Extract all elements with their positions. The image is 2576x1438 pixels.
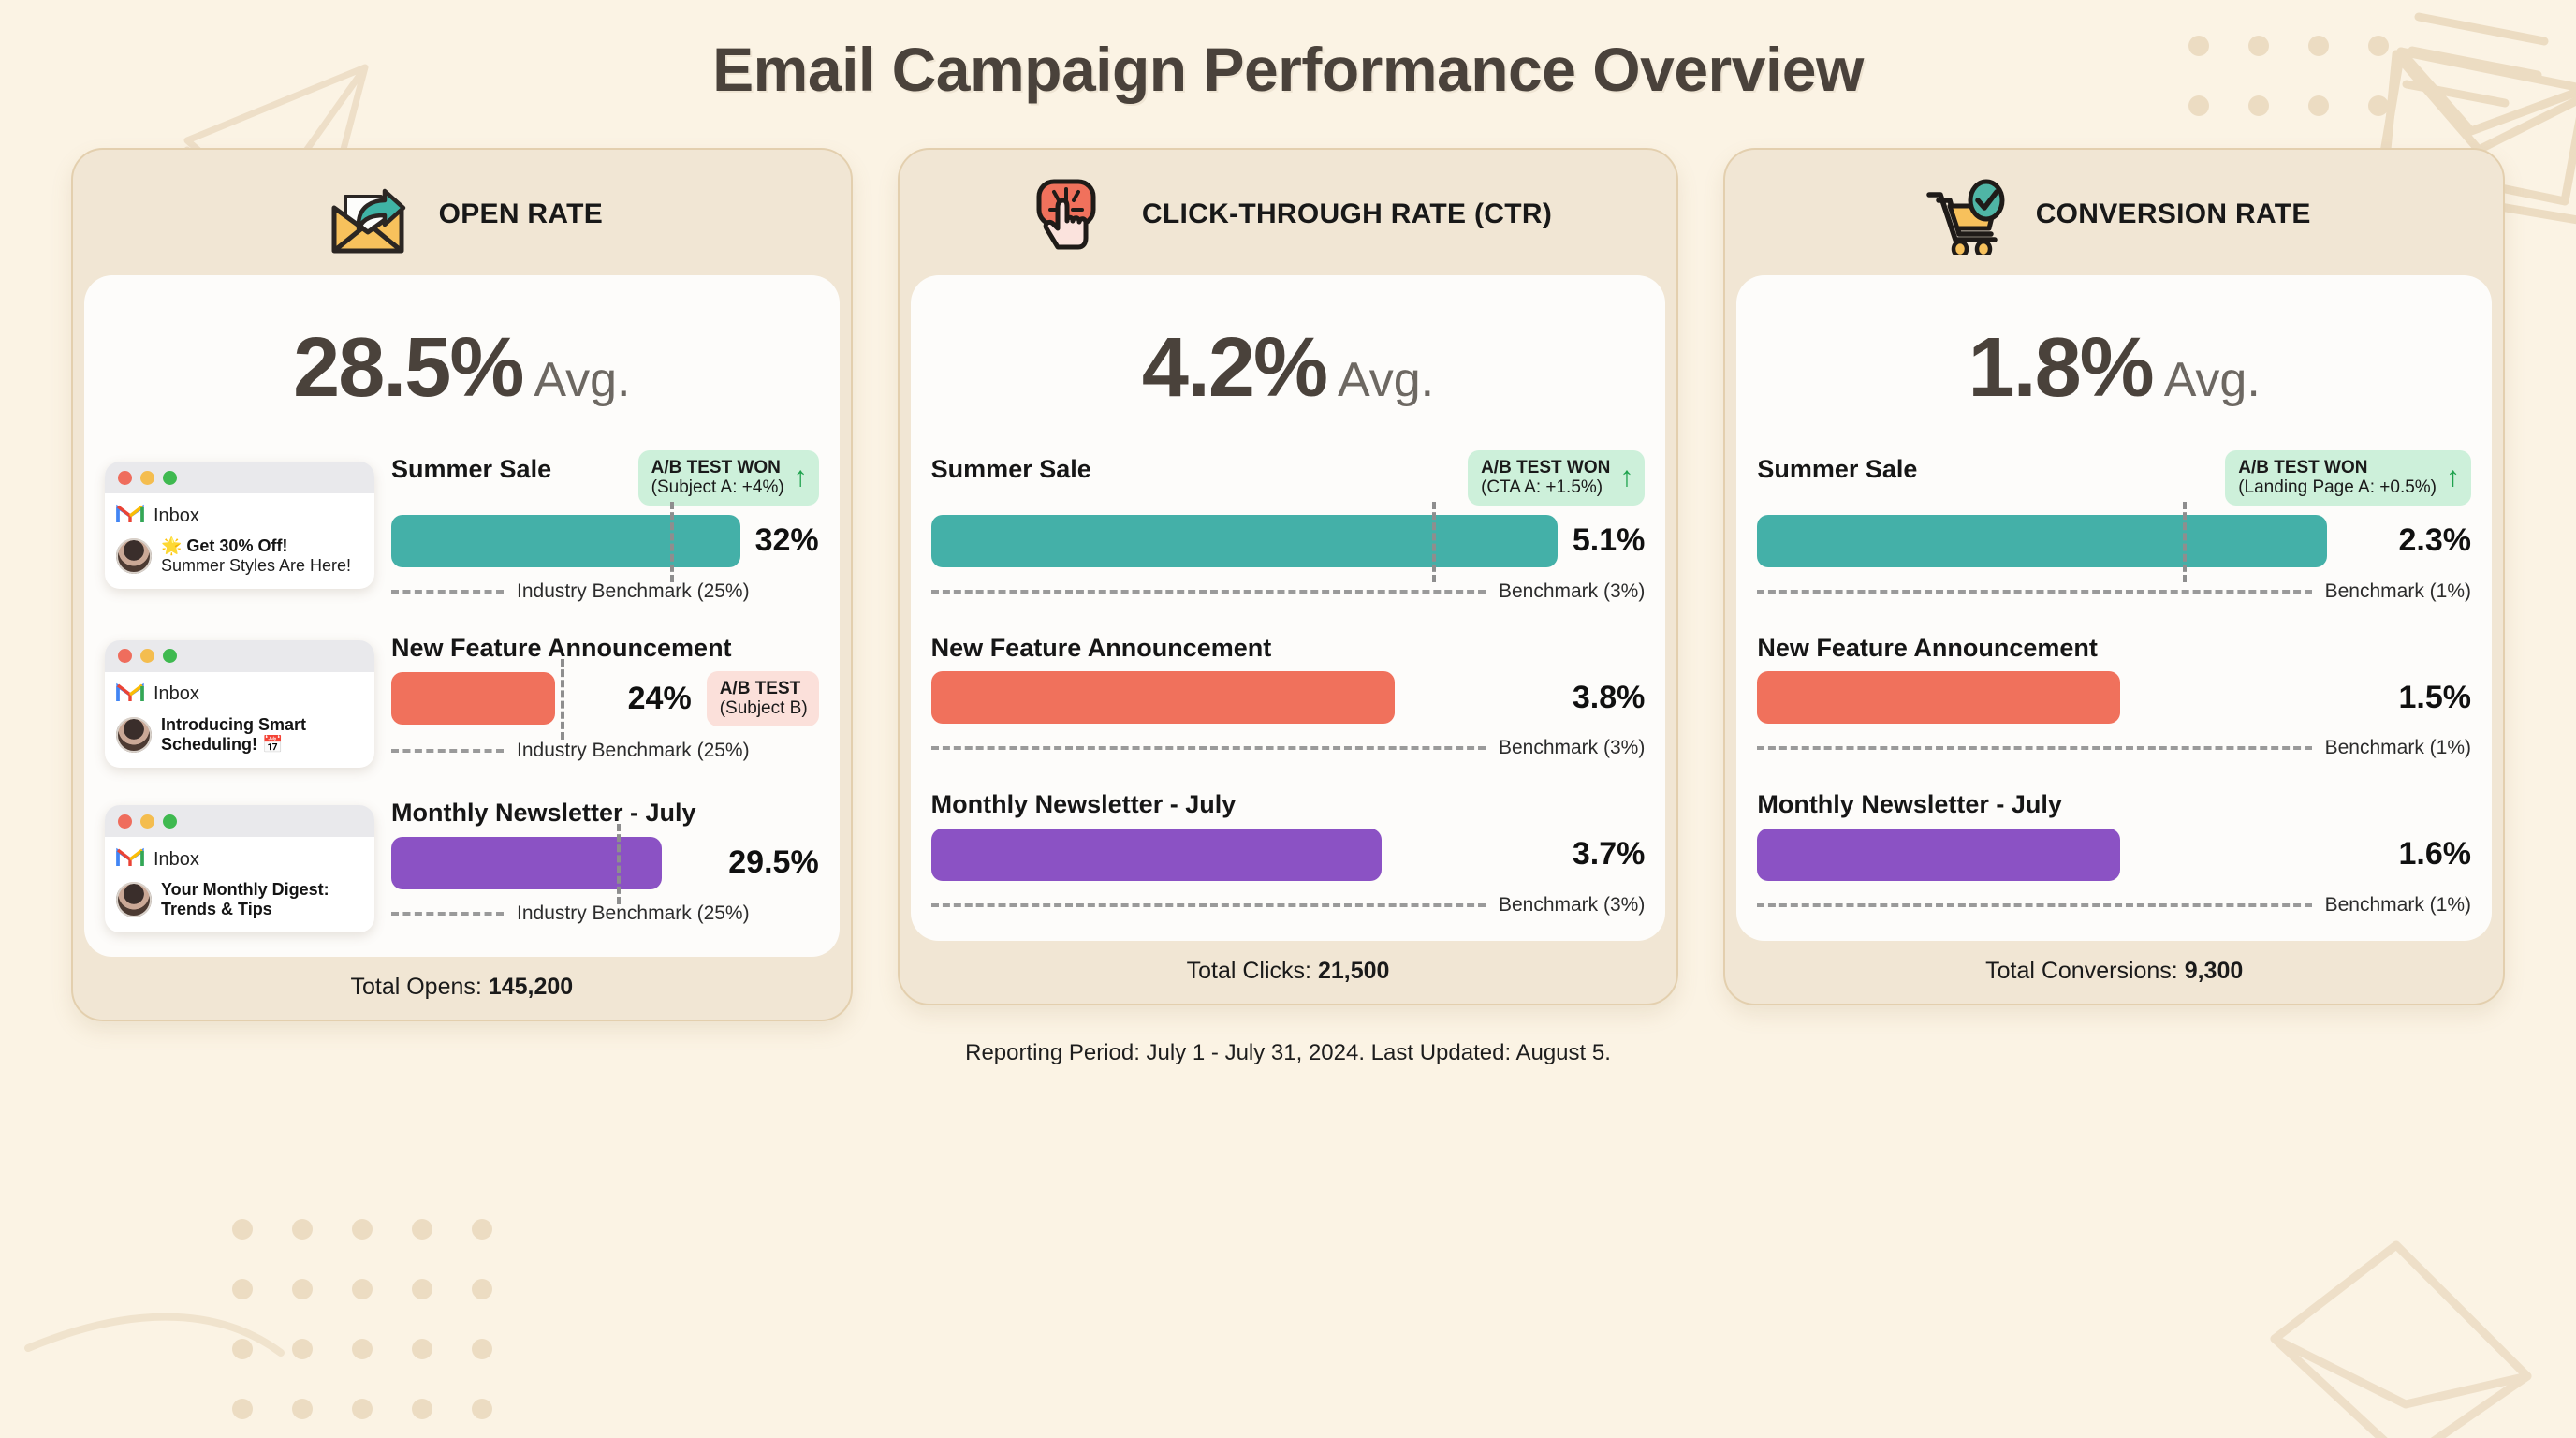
metric-chart: Summer Sale A/B TEST WON (Landing Page A…: [1757, 448, 2471, 603]
value-bar: [391, 672, 555, 725]
badge-line-2: (Subject A: +4%): [651, 477, 784, 497]
metric-rows: Summer Sale A/B TEST WON (CTA A: +1.5%) …: [911, 448, 1666, 917]
ab-test-badge[interactable]: A/B TEST (Subject B): [707, 671, 819, 726]
benchmark-dash: [1757, 590, 2311, 594]
close-dot-icon: [118, 471, 132, 485]
card-footer: Total Opens: 145,200: [73, 957, 851, 1020]
average-label: Avg.: [2164, 353, 2261, 407]
benchmark-line: [670, 502, 674, 582]
card-footer: Total Clicks: 21,500: [900, 941, 1677, 1004]
arrow-up-icon: ↑: [794, 466, 808, 489]
benchmark-dash: [931, 746, 1486, 750]
badge-line-2: (Landing Page A: +0.5%): [2238, 477, 2437, 497]
metric-chart: New Feature Announcement 1.5%: [1757, 627, 2471, 760]
metric-card-click-through-rate[interactable]: CLICK-THROUGH RATE (CTR) 4.2%Avg. Summer…: [898, 148, 1679, 1005]
benchmark-label: Benchmark (1%): [2325, 894, 2471, 917]
dot-grid-bottom-left: [232, 1219, 492, 1419]
value-label: 24%: [628, 681, 692, 717]
campaign-name: Summer Sale: [931, 450, 1091, 484]
benchmark-dash: [391, 590, 504, 594]
metric-chart: Monthly Newsletter - July 3.7%: [931, 784, 1646, 917]
arrow-up-icon: ↑: [1619, 466, 1633, 489]
value-label: 2.3%: [2399, 522, 2472, 559]
benchmark-label: Benchmark (1%): [2325, 580, 2471, 603]
benchmark-line: [561, 659, 564, 740]
metric-row[interactable]: Monthly Newsletter - July 1.6%: [1757, 784, 2471, 917]
metric-row[interactable]: Inbox 🌟 Get 30% Off! Summer Styles Are H…: [105, 448, 819, 603]
card-body: 1.8%Avg. Summer Sale A/B TEST WON (Landi…: [1736, 275, 2492, 941]
card-header: CLICK-THROUGH RATE (CTR): [900, 150, 1677, 275]
benchmark-line: [2183, 502, 2187, 582]
total-value: 9,300: [2185, 958, 2244, 984]
card-body: 28.5%Avg.: [84, 275, 840, 957]
total-label: Total Clicks:: [1187, 958, 1311, 984]
benchmark-label: Industry Benchmark (25%): [517, 902, 750, 925]
minimize-dot-icon: [140, 649, 154, 663]
campaign-name: New Feature Announcement: [1757, 629, 2098, 663]
badge-line-1: A/B TEST: [720, 679, 801, 698]
benchmark-label: Industry Benchmark (25%): [517, 740, 750, 762]
benchmark-line: [1432, 502, 1436, 582]
campaign-name: Monthly Newsletter - July: [931, 785, 1237, 819]
value-label: 1.5%: [2399, 680, 2472, 716]
metric-chart: New Feature Announcement 24%: [391, 627, 819, 762]
value-label: 5.1%: [1573, 522, 1646, 559]
value-label: 3.7%: [1573, 836, 1646, 873]
close-dot-icon: [118, 649, 132, 663]
value-bar: [931, 671, 1395, 724]
value-label: 1.6%: [2399, 836, 2472, 873]
minimize-dot-icon: [140, 471, 154, 485]
campaign-name: Summer Sale: [391, 450, 551, 484]
total-label: Total Conversions:: [1985, 958, 2178, 984]
value-bar: [1757, 829, 2120, 881]
reporting-period-note: Reporting Period: July 1 - July 31, 2024…: [0, 1040, 2576, 1066]
email-subject: Introducing Smart: [161, 715, 306, 734]
average-label: Avg.: [1338, 353, 1434, 407]
avatar: [116, 717, 152, 753]
campaign-name: Monthly Newsletter - July: [391, 794, 696, 828]
arrow-up-icon: ↑: [2446, 466, 2460, 489]
gmail-icon: [116, 682, 144, 708]
badge-line-1: A/B TEST WON: [1481, 458, 1610, 477]
average-value: 28.5%: [293, 321, 522, 415]
value-bar: [931, 515, 1558, 567]
metric-cards-row: OPEN RATE 28.5%Avg.: [0, 105, 2576, 1021]
metric-chart: Monthly Newsletter - July 29.5%: [391, 792, 819, 925]
value-bar: [1757, 671, 2120, 724]
value-bar: [1757, 515, 2327, 567]
metric-row[interactable]: New Feature Announcement 1.5%: [1757, 627, 2471, 760]
metric-chart: Monthly Newsletter - July 1.6%: [1757, 784, 2471, 917]
window-titlebar: [105, 640, 374, 672]
campaign-name: New Feature Announcement: [391, 629, 732, 663]
click-cursor-icon: [1024, 174, 1118, 255]
average-value-line: 4.2%Avg.: [911, 296, 1666, 448]
total-value: 21,500: [1318, 958, 1389, 984]
benchmark-dash: [931, 590, 1486, 594]
average-value-line: 1.8%Avg.: [1736, 296, 2492, 448]
total-label: Total Opens:: [350, 974, 481, 1000]
benchmark-label: Benchmark (3%): [1499, 894, 1645, 917]
metric-row[interactable]: Summer Sale A/B TEST WON (Landing Page A…: [1757, 448, 2471, 603]
metric-row[interactable]: Inbox Your Monthly Digest: Trends & Tips: [105, 792, 819, 932]
avatar: [116, 882, 152, 917]
campaign-name: Summer Sale: [1757, 450, 1917, 484]
average-value: 1.8%: [1969, 321, 2153, 415]
campaign-name: New Feature Announcement: [931, 629, 1272, 663]
average-value-line: 28.5%Avg.: [84, 296, 840, 448]
maximize-dot-icon: [163, 649, 177, 663]
email-subject: Your Monthly Digest:: [161, 880, 329, 899]
page-title: Email Campaign Performance Overview: [0, 0, 2576, 105]
badge-line-1: A/B TEST WON: [2238, 458, 2367, 477]
benchmark-label: Industry Benchmark (25%): [517, 580, 750, 603]
metric-chart: Summer Sale A/B TEST WON (CTA A: +1.5%) …: [931, 448, 1646, 603]
metric-row[interactable]: New Feature Announcement 3.8%: [931, 627, 1646, 760]
card-header: CONVERSION RATE: [1725, 150, 2503, 275]
email-preview: Summer Styles Are Here!: [161, 556, 351, 575]
avatar: [116, 538, 152, 574]
inbox-preview-card: Inbox Your Monthly Digest: Trends & Tips: [105, 805, 374, 932]
average-value: 4.2%: [1142, 321, 1326, 415]
metric-chart: Summer Sale A/B TEST WON (Subject A: +4%…: [391, 448, 819, 603]
campaign-name: Monthly Newsletter - July: [1757, 785, 2062, 819]
value-label: 3.8%: [1573, 680, 1646, 716]
metric-row[interactable]: Summer Sale A/B TEST WON (CTA A: +1.5%) …: [931, 448, 1646, 603]
metric-card-conversion-rate[interactable]: CONVERSION RATE 1.8%Avg. Summer Sale A/B…: [1723, 148, 2505, 1005]
card-title: CONVERSION RATE: [2036, 198, 2311, 230]
total-value: 145,200: [489, 974, 573, 1000]
badge-line-1: A/B TEST WON: [651, 458, 781, 477]
benchmark-dash: [391, 749, 504, 753]
metric-card-open-rate[interactable]: OPEN RATE 28.5%Avg.: [71, 148, 853, 1021]
inbox-preview-card: Inbox 🌟 Get 30% Off! Summer Styles Are H…: [105, 462, 374, 589]
inbox-folder-label: Inbox: [154, 683, 199, 705]
open-envelope-icon: [321, 174, 415, 255]
benchmark-dash: [1757, 903, 2311, 907]
metric-row[interactable]: Monthly Newsletter - July 3.7%: [931, 784, 1646, 917]
value-label: 32%: [755, 522, 819, 559]
cart-check-icon: [1918, 174, 2012, 255]
maximize-dot-icon: [163, 814, 177, 829]
minimize-dot-icon: [140, 814, 154, 829]
email-preview: Trends & Tips: [161, 900, 272, 918]
metric-rows: Summer Sale A/B TEST WON (Landing Page A…: [1736, 448, 2492, 917]
benchmark-dash: [931, 903, 1486, 907]
card-header: OPEN RATE: [73, 150, 851, 275]
value-bar: [391, 515, 740, 567]
email-preview: Scheduling! 📅: [161, 735, 283, 754]
badge-line-2: (CTA A: +1.5%): [1481, 477, 1603, 497]
value-label: 29.5%: [728, 844, 818, 881]
value-bar: [931, 829, 1383, 881]
close-dot-icon: [118, 814, 132, 829]
card-title: OPEN RATE: [439, 198, 604, 230]
average-label: Avg.: [534, 353, 630, 407]
inbox-folder-label: Inbox: [154, 506, 199, 527]
maximize-dot-icon: [163, 471, 177, 485]
email-subject: 🌟 Get 30% Off!: [161, 536, 287, 555]
ab-test-badge[interactable]: A/B TEST WON (CTA A: +1.5%) ↑: [1468, 450, 1645, 506]
inbox-folder-label: Inbox: [154, 849, 199, 871]
inbox-preview-card: Inbox Introducing Smart Scheduling! 📅: [105, 640, 374, 768]
card-footer: Total Conversions: 9,300: [1725, 941, 2503, 1004]
metric-rows: Inbox 🌟 Get 30% Off! Summer Styles Are H…: [84, 448, 840, 932]
ab-test-badge[interactable]: A/B TEST WON (Subject A: +4%) ↑: [638, 450, 819, 506]
benchmark-label: Benchmark (3%): [1499, 737, 1645, 759]
value-bar: [391, 837, 662, 889]
metric-chart: New Feature Announcement 3.8%: [931, 627, 1646, 760]
metric-row[interactable]: Inbox Introducing Smart Scheduling! 📅: [105, 627, 819, 768]
benchmark-line: [617, 824, 621, 904]
benchmark-label: Benchmark (1%): [2325, 737, 2471, 759]
benchmark-dash: [1757, 746, 2311, 750]
gmail-icon: [116, 503, 144, 529]
window-titlebar: [105, 462, 374, 493]
ab-test-badge[interactable]: A/B TEST WON (Landing Page A: +0.5%) ↑: [2225, 450, 2471, 506]
card-body: 4.2%Avg. Summer Sale A/B TEST WON (CTA A…: [911, 275, 1666, 941]
benchmark-label: Benchmark (3%): [1499, 580, 1645, 603]
badge-line-2: (Subject B): [720, 698, 808, 718]
card-title: CLICK-THROUGH RATE (CTR): [1142, 198, 1552, 230]
window-titlebar: [105, 805, 374, 837]
benchmark-dash: [391, 912, 504, 916]
gmail-icon: [116, 846, 144, 873]
